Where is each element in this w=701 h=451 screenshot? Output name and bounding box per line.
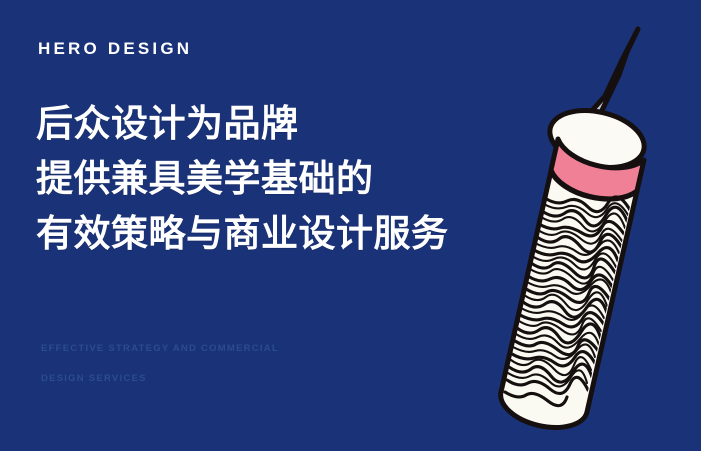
subcaption-line-1: EFFECTIVE STRATEGY AND COMMERCIAL: [41, 334, 441, 364]
poster-text-content: HERO DESIGN 后众设计为品牌 提供兼具美学基础的 有效策略与商业设计服…: [0, 0, 701, 451]
subcaption-line-2: DESIGN SERVICES: [41, 364, 441, 394]
brand-eyebrow: HERO DESIGN: [38, 40, 192, 57]
headline-line-1: 后众设计为品牌: [36, 96, 516, 151]
headline-line-3: 有效策略与商业设计服务: [36, 206, 516, 261]
subcaption: EFFECTIVE STRATEGY AND COMMERCIAL DESIGN…: [41, 334, 441, 394]
poster-canvas: HERO DESIGN 后众设计为品牌 提供兼具美学基础的 有效策略与商业设计服…: [0, 0, 701, 451]
page-title: 后众设计为品牌 提供兼具美学基础的 有效策略与商业设计服务: [36, 96, 516, 261]
headline-line-2: 提供兼具美学基础的: [36, 151, 516, 206]
